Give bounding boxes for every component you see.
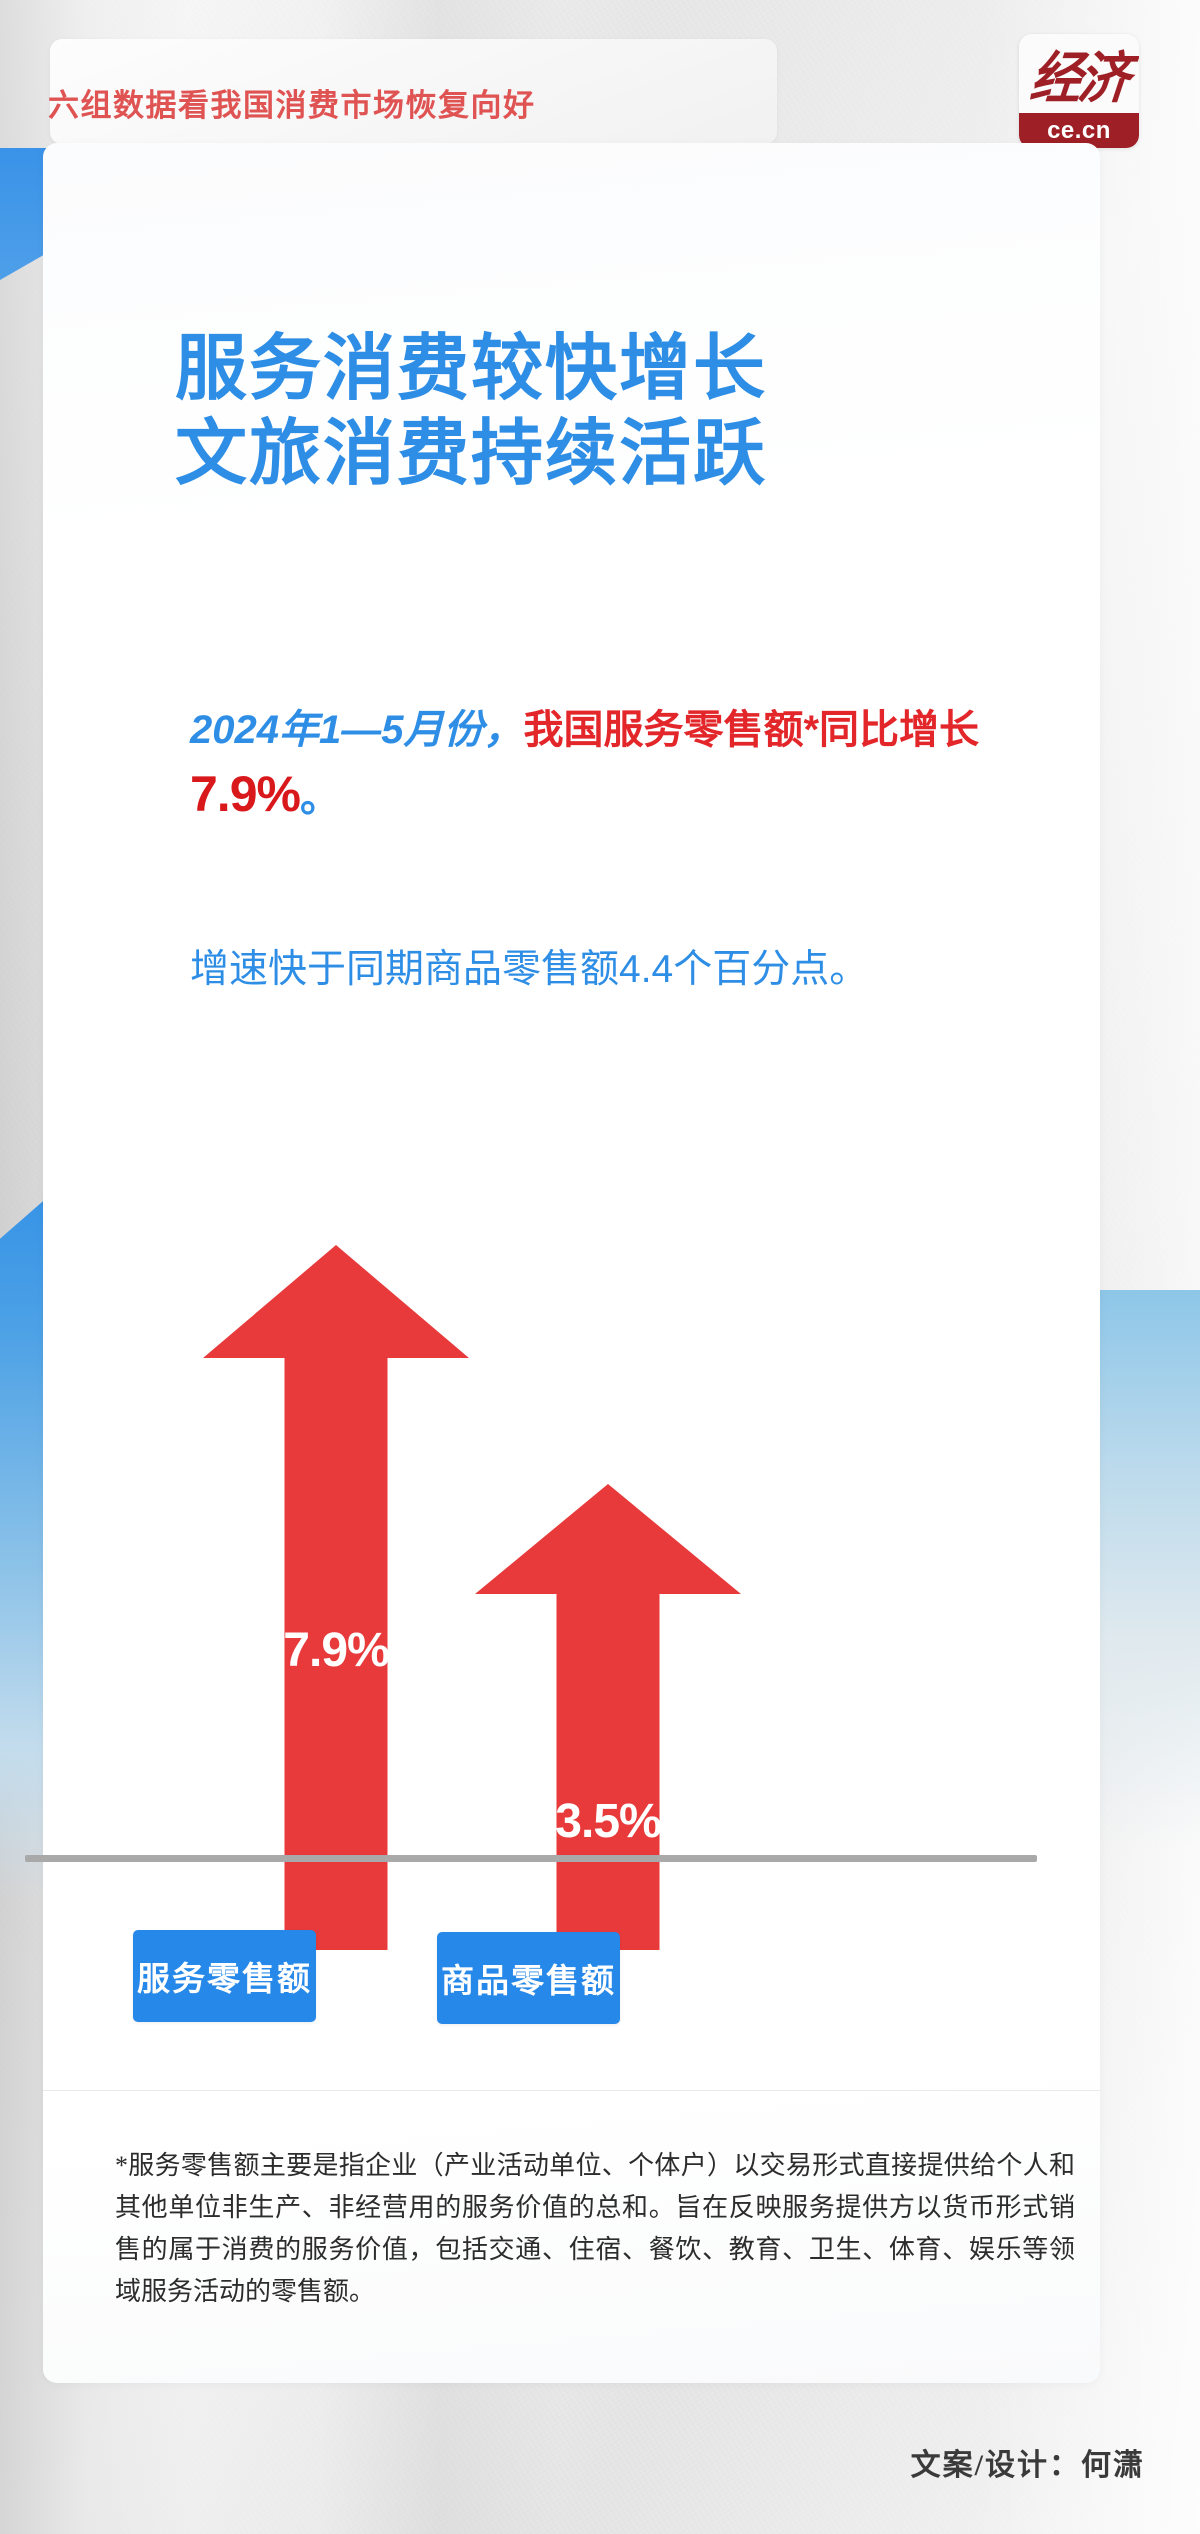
comparison-paragraph: 增速快于同期商品零售额4.4个百分点。 — [190, 942, 1010, 999]
lead-date: 2024年1—5月份， — [190, 708, 523, 752]
series-title: 六组数据看我国消费市场恢复向好 — [48, 80, 728, 125]
category-label-goods-retail[interactable]: 商品零售额 — [437, 1932, 620, 2024]
page-title: 服务消费较快增长 文旅消费持续活跃 — [175, 327, 1055, 497]
bar-service-retail: 7.9% — [203, 1245, 469, 1950]
bar-goods-retail: 3.5% — [475, 1484, 741, 1950]
footnote-text: *服务零售额主要是指企业（产业活动单位、个体户）以交易形式直接提供给个人和其他单… — [115, 2145, 1075, 2313]
ce-cn-logo[interactable]: 经济 ce.cn — [1019, 34, 1139, 148]
arrow-bar-chart: 7.9% 3.5% — [43, 1150, 1100, 1950]
lead-value: 7.9% — [190, 766, 300, 822]
logo-domain-text: ce.cn — [1047, 117, 1111, 145]
footnote-divider — [43, 2090, 1100, 2091]
chart-baseline-axis — [25, 1855, 1037, 1862]
up-arrow-icon — [203, 1245, 469, 1358]
bar-shaft — [557, 1591, 660, 1950]
lead-paragraph: 2024年1—5月份，我国服务零售额*同比增长7.9%。 — [190, 702, 1050, 830]
logo-calligraphy-icon: 经济 — [1019, 34, 1139, 117]
category-label-service-retail[interactable]: 服务零售额 — [133, 1930, 316, 2022]
bar-value-label: 7.9% — [283, 1623, 388, 1678]
bar-value-label: 3.5% — [555, 1794, 660, 1849]
up-arrow-icon — [475, 1484, 741, 1594]
lead-period: 。 — [300, 776, 340, 820]
page-title-line-2: 文旅消费持续活跃 — [175, 412, 1055, 497]
credit-line: 文案/设计：何潇 — [911, 2440, 1145, 2484]
lead-text: 我国服务零售额*同比增长 — [523, 708, 979, 752]
page-title-line-1: 服务消费较快增长 — [175, 327, 1055, 412]
